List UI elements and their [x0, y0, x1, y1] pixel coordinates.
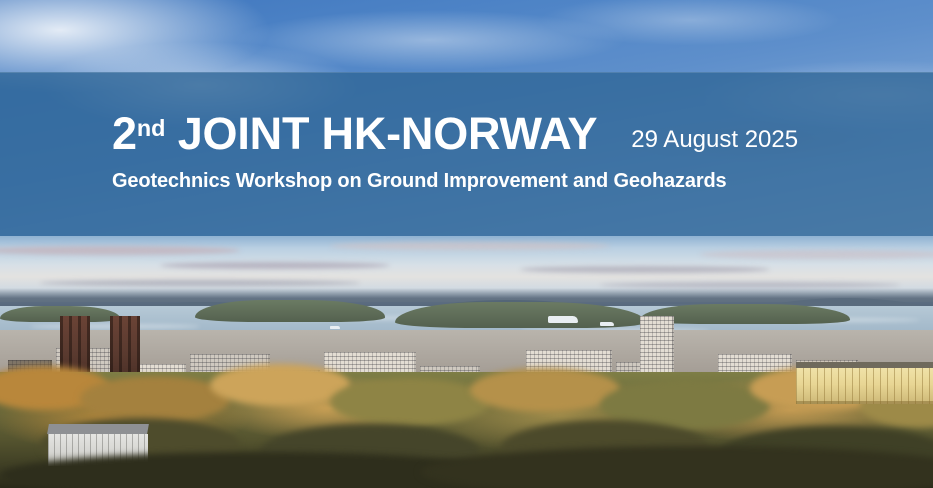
- boat: [600, 322, 614, 326]
- banner-content: 2nd JOINT HK-NORWAY 29 August 2025 Geote…: [112, 72, 933, 236]
- conference-banner-image: 2nd JOINT HK-NORWAY 29 August 2025 Geote…: [0, 0, 933, 488]
- city-hall-tower-right: [110, 316, 140, 380]
- title-banner: 2nd JOINT HK-NORWAY 29 August 2025 Geote…: [0, 72, 933, 236]
- boat: [330, 326, 340, 329]
- page-subtitle: Geotechnics Workshop on Ground Improveme…: [112, 171, 727, 191]
- title-row: 2nd JOINT HK-NORWAY 29 August 2025: [112, 111, 798, 156]
- page-title: 2nd JOINT HK-NORWAY: [112, 111, 597, 156]
- title-ordinal-number: 2: [112, 108, 137, 159]
- cruise-ship: [548, 316, 578, 323]
- title-ordinal-suffix: nd: [137, 115, 166, 141]
- title-main-text: JOINT HK-NORWAY: [165, 108, 597, 159]
- event-date: 29 August 2025: [631, 128, 798, 152]
- fjord-island: [195, 300, 385, 322]
- white-building-roof: [47, 424, 149, 434]
- royal-palace: [796, 368, 933, 404]
